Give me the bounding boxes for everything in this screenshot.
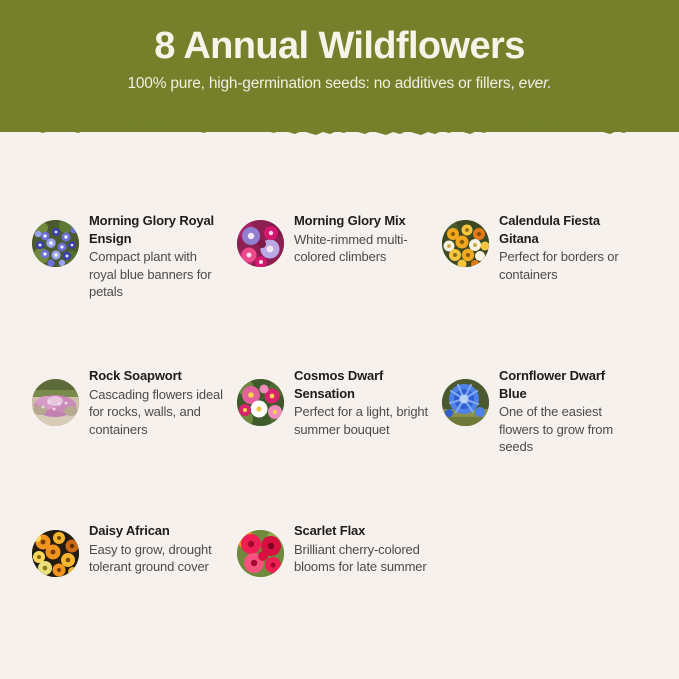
page-title: 8 Annual Wildflowers xyxy=(0,24,679,68)
page-subtitle: 100% pure, high-germination seeds: no ad… xyxy=(0,74,679,94)
list-item[interactable]: Morning Glory Royal Ensign Compact plant… xyxy=(32,196,237,351)
header-banner: 8 Annual Wildflowers 100% pure, high-ger… xyxy=(0,0,679,142)
list-item-text: Cornflower Dwarf Blue One of the easiest… xyxy=(499,351,635,456)
calendula-fiesta-gitana-thumbnail xyxy=(442,220,489,267)
list-item-description: One of the easiest flowers to grow from … xyxy=(499,403,635,456)
list-item-description: Cascading flowers ideal for rocks, walls… xyxy=(89,386,225,439)
grid-empty-cell xyxy=(442,506,647,661)
list-item-text: Morning Glory Royal Ensign Compact plant… xyxy=(89,196,225,301)
page-subtitle-emphasis: ever. xyxy=(519,75,552,92)
list-item-text: Rock Soapwort Cascading flowers ideal fo… xyxy=(89,351,225,438)
list-item-title: Calendula Fiesta Gitana xyxy=(499,212,635,247)
list-item[interactable]: Scarlet Flax Brilliant cherry-colored bl… xyxy=(237,506,442,661)
cornflower-dwarf-blue-thumbnail xyxy=(442,379,489,426)
list-item-title: Cosmos Dwarf Sensation xyxy=(294,367,430,402)
list-item[interactable]: Morning Glory Mix White-rimmed multi-col… xyxy=(237,196,442,351)
list-item[interactable]: Daisy African Easy to grow, drought tole… xyxy=(32,506,237,661)
list-item-description: Easy to grow, drought tolerant ground co… xyxy=(89,541,225,576)
list-item-text: Morning Glory Mix White-rimmed multi-col… xyxy=(294,196,430,266)
scarlet-flax-thumbnail xyxy=(237,530,284,577)
list-item-description: Brilliant cherry-colored blooms for late… xyxy=(294,541,430,576)
list-item[interactable]: Cosmos Dwarf Sensation Perfect for a lig… xyxy=(237,351,442,506)
list-item-description: Compact plant with royal blue banners fo… xyxy=(89,248,225,301)
rock-soapwort-thumbnail xyxy=(32,379,79,426)
daisy-african-thumbnail xyxy=(32,530,79,577)
list-item[interactable]: Cornflower Dwarf Blue One of the easiest… xyxy=(442,351,647,506)
list-item-text: Daisy African Easy to grow, drought tole… xyxy=(89,506,225,576)
list-item[interactable]: Calendula Fiesta Gitana Perfect for bord… xyxy=(442,196,647,351)
cosmos-dwarf-sensation-thumbnail xyxy=(237,379,284,426)
list-item-title: Daisy African xyxy=(89,522,225,540)
morning-glory-mix-thumbnail xyxy=(237,220,284,267)
list-item-text: Scarlet Flax Brilliant cherry-colored bl… xyxy=(294,506,430,576)
list-item-description: Perfect for borders or containers xyxy=(499,248,635,283)
page-subtitle-main: 100% pure, high-germination seeds: no ad… xyxy=(127,75,514,92)
list-item-text: Calendula Fiesta Gitana Perfect for bord… xyxy=(499,196,635,283)
list-item-title: Scarlet Flax xyxy=(294,522,430,540)
list-item-title: Morning Glory Royal Ensign xyxy=(89,212,225,247)
list-item-title: Cornflower Dwarf Blue xyxy=(499,367,635,402)
wildflower-list: Morning Glory Royal Ensign Compact plant… xyxy=(32,196,647,661)
list-item-title: Morning Glory Mix xyxy=(294,212,430,230)
list-item-text: Cosmos Dwarf Sensation Perfect for a lig… xyxy=(294,351,430,438)
header-text-block: 8 Annual Wildflowers 100% pure, high-ger… xyxy=(0,0,679,132)
list-item[interactable]: Rock Soapwort Cascading flowers ideal fo… xyxy=(32,351,237,506)
list-item-description: White-rimmed multi-colored climbers xyxy=(294,231,430,266)
list-item-title: Rock Soapwort xyxy=(89,367,225,385)
list-item-description: Perfect for a light, bright summer bouqu… xyxy=(294,403,430,438)
morning-glory-royal-ensign-thumbnail xyxy=(32,220,79,267)
